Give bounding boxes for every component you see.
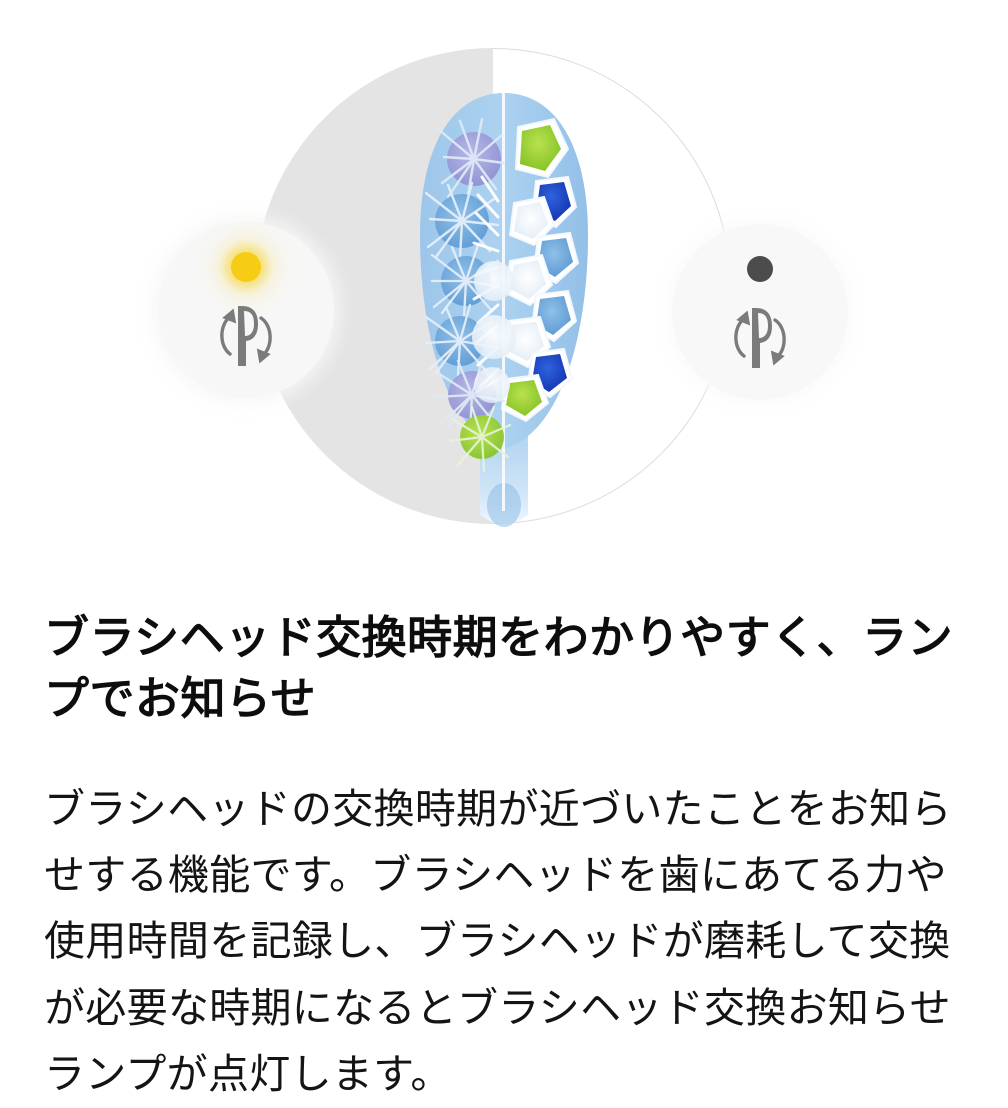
badge-lamp-off xyxy=(672,224,848,400)
feature-copy-block: ブラシヘッド交換時期をわかりやすく、ランプでお知らせ ブラシヘッドの交換時期が近… xyxy=(0,580,1008,1108)
replacement-lamp-indicator-lit xyxy=(231,252,261,282)
badge-lamp-on xyxy=(158,222,334,398)
brush-head-image xyxy=(398,85,610,555)
brush-head-replace-icon xyxy=(718,298,802,378)
brush-head-replace-icon xyxy=(204,296,288,376)
product-illustration xyxy=(0,0,1008,580)
feature-headline: ブラシヘッド交換時期をわかりやすく、ランプでお知らせ xyxy=(44,580,964,730)
feature-body-text: ブラシヘッドの交換時期が近づいたことをお知らせする機能です。ブラシヘッドを歯にあ… xyxy=(44,730,964,1108)
replacement-lamp-indicator-unlit xyxy=(747,256,773,282)
